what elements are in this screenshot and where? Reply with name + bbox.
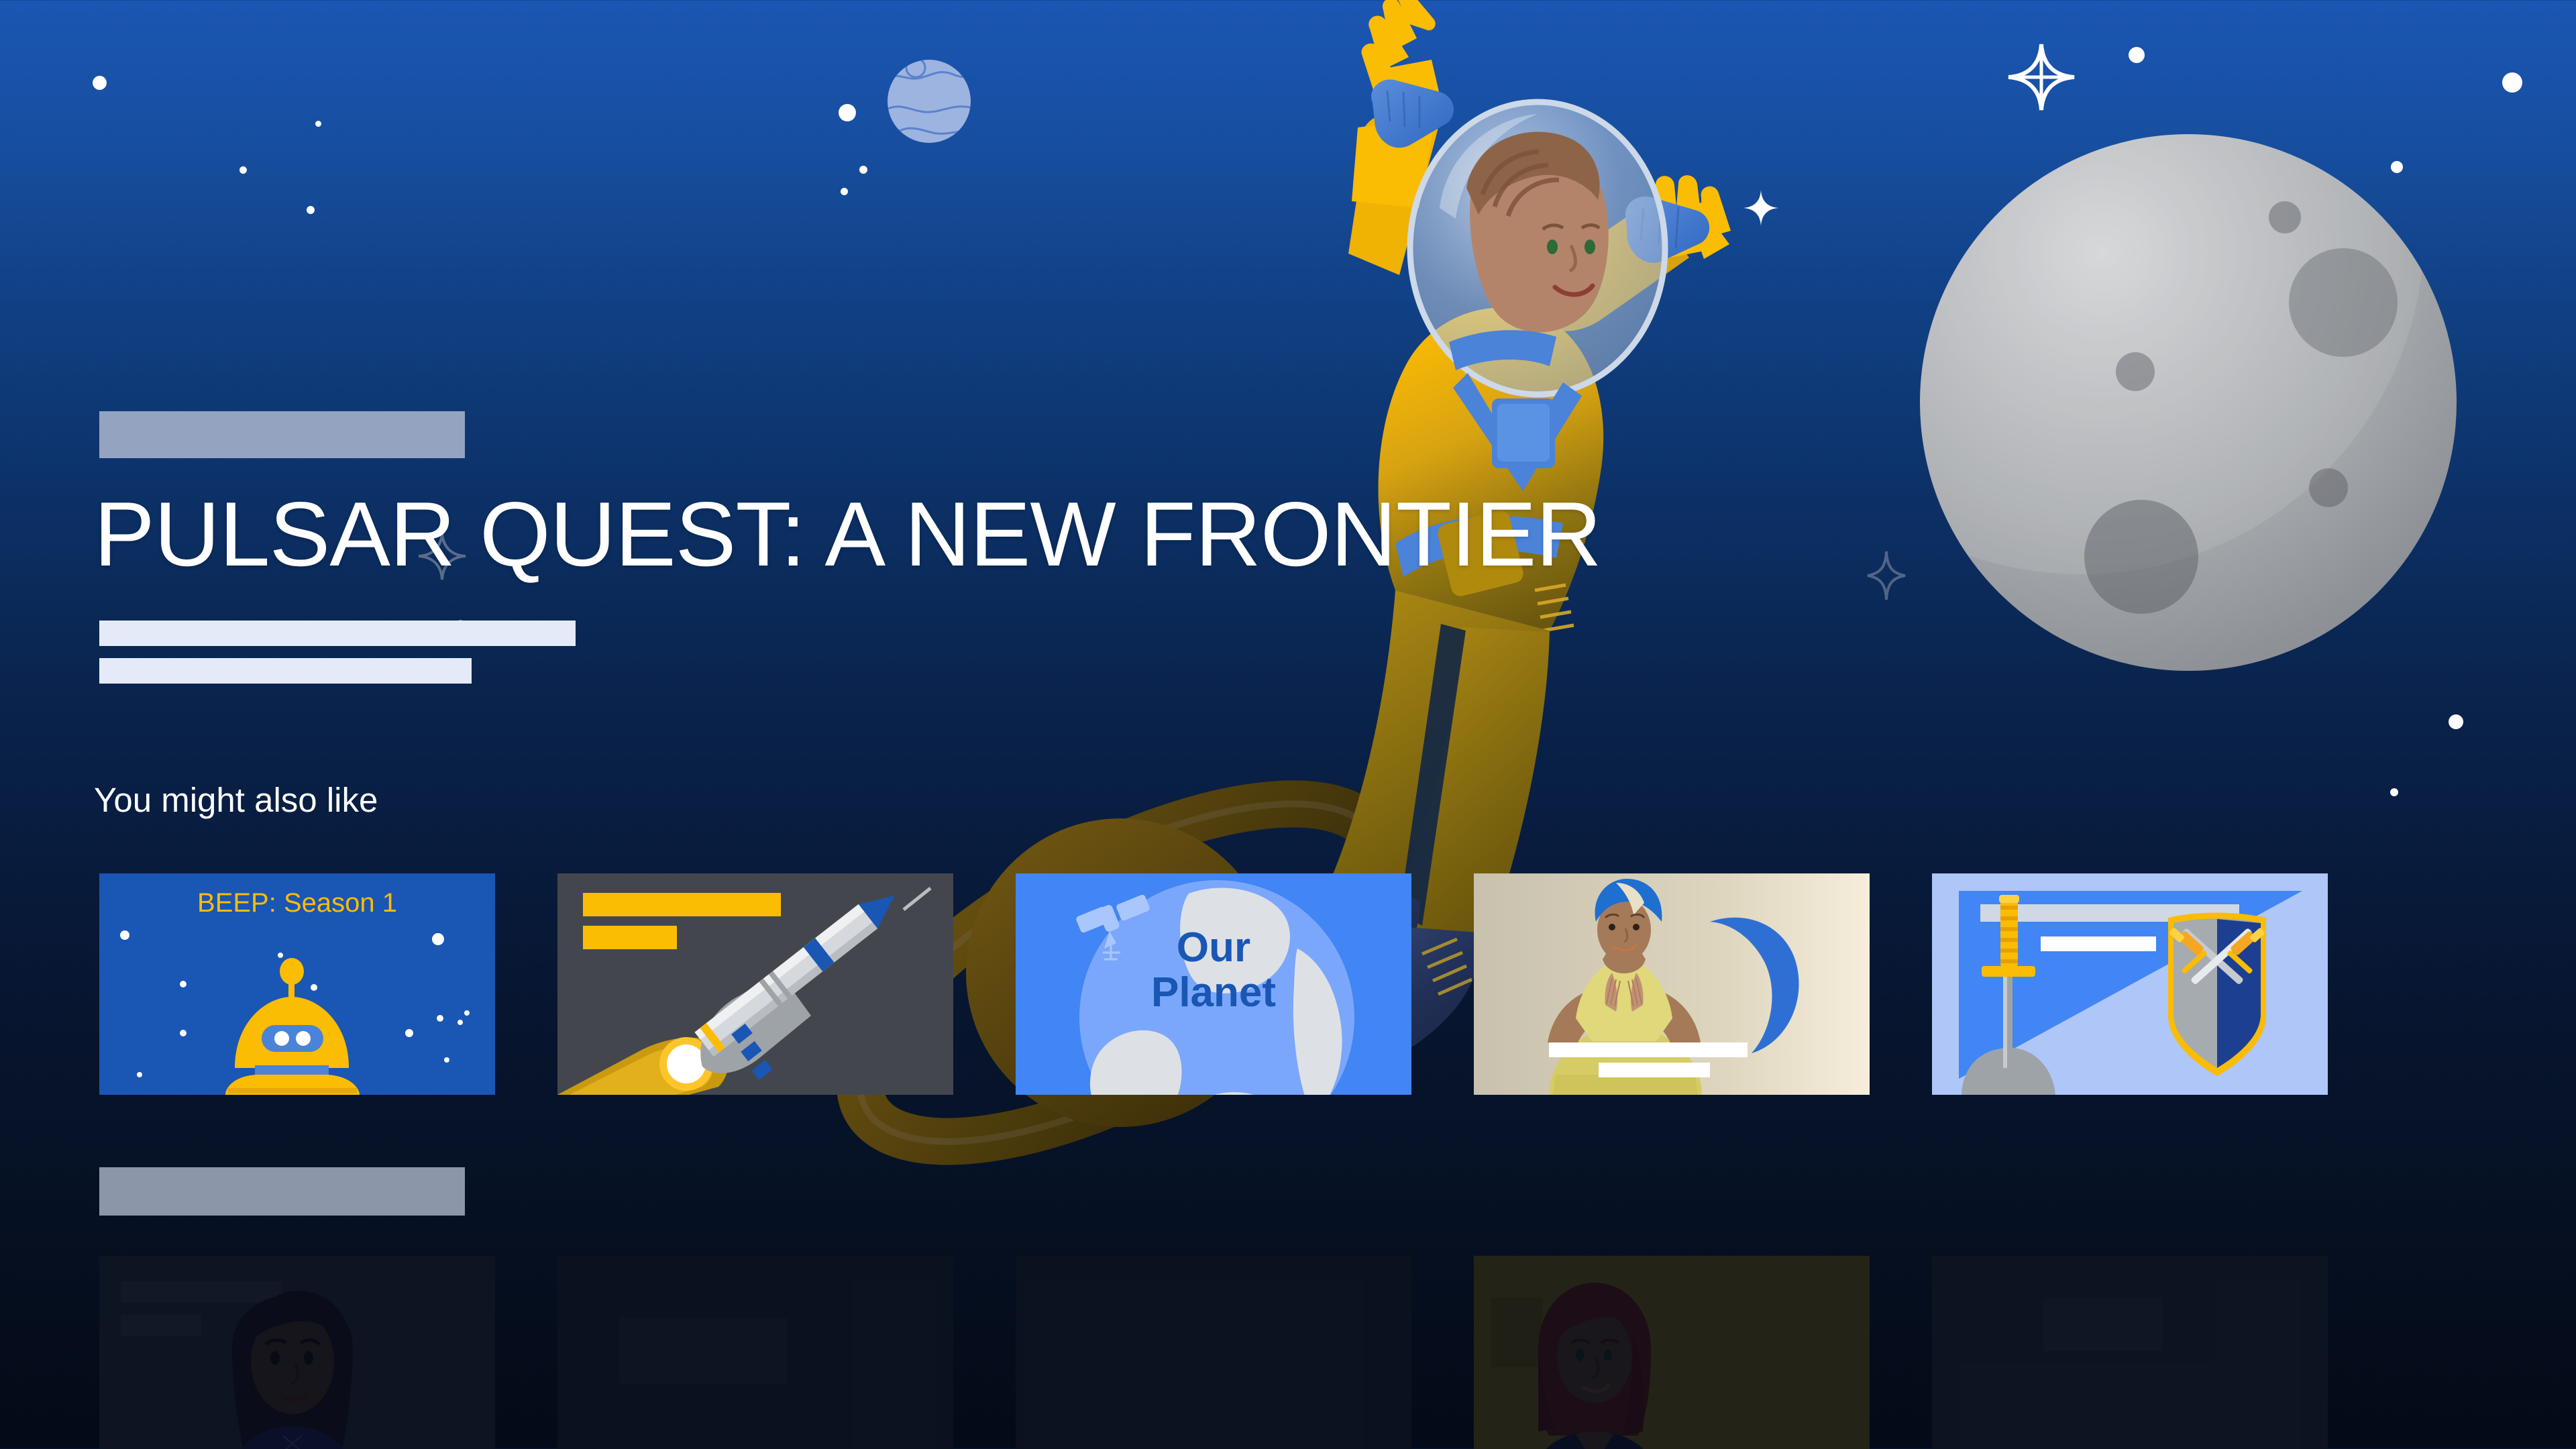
card-our-planet[interactable]: Our Planet [1016, 873, 1411, 1095]
recommendation-row-2[interactable] [99, 1256, 2328, 1449]
card-rocket-launch[interactable] [557, 873, 953, 1095]
card-title: Our Planet [1016, 926, 1411, 1016]
section-heading-placeholder-bar [99, 1167, 465, 1216]
card-beep-season-1[interactable]: BEEP: Season 1 [99, 873, 495, 1095]
card-placeholder-3[interactable] [1016, 1256, 1411, 1449]
page-title: PULSAR QUEST: A NEW FRONTIER [94, 486, 1601, 582]
card-woman-dark-hair[interactable] [99, 1256, 495, 1449]
recommendation-row-1[interactable]: BEEP: Season 1 [99, 873, 2328, 1095]
card-person-meditating[interactable] [1474, 873, 1870, 1095]
description-placeholder-bar-2 [99, 658, 472, 684]
card-woman-red-hair[interactable] [1474, 1256, 1870, 1449]
page-content: PULSAR QUEST: A NEW FRONTIER You might a… [0, 0, 2576, 1449]
card-placeholder-5[interactable] [1932, 1256, 2328, 1449]
description-placeholder-bar-1 [99, 621, 576, 646]
eyebrow-placeholder-bar [99, 411, 465, 458]
card-sword-and-shield[interactable] [1932, 873, 2328, 1095]
card-placeholder-2[interactable] [557, 1256, 953, 1449]
section-heading-you-might-also-like: You might also like [94, 780, 378, 820]
card-title: BEEP: Season 1 [99, 888, 495, 918]
